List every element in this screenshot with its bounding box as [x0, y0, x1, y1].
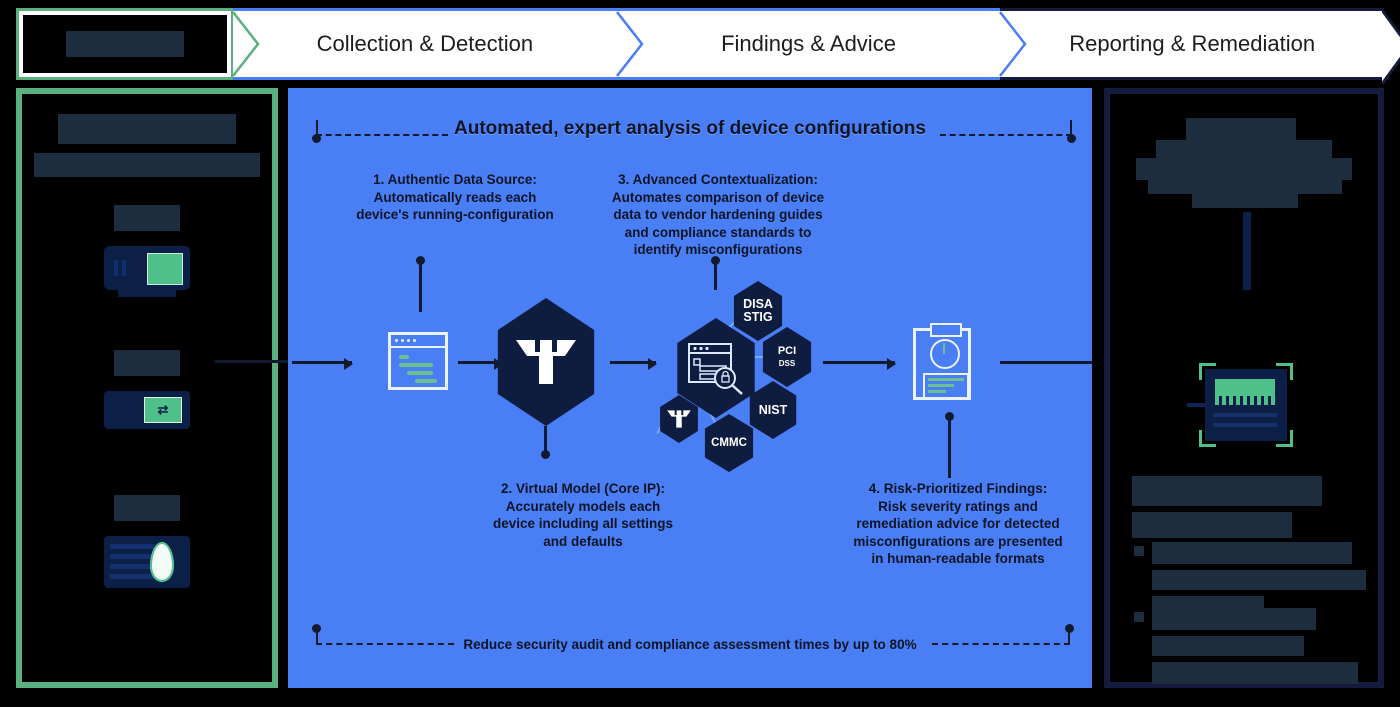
chevron-notch-2 [616, 11, 646, 77]
config-window-titlebar-icon [391, 335, 445, 348]
server-bracket-br [1276, 430, 1293, 447]
server-shelf-1 [1213, 413, 1277, 417]
callout-3-leader [714, 260, 717, 290]
callout-2-body: Accurately models eachdevice including a… [493, 499, 673, 549]
config-window-icon [388, 332, 448, 390]
callout-1-title: 1. Authentic Data Source: [330, 171, 580, 189]
reporting-panel [1104, 88, 1384, 688]
chevron-step-1-redacted-label [23, 15, 227, 73]
server-inbound-connector [1187, 403, 1207, 407]
chevron-step-1[interactable] [16, 8, 234, 80]
chevron-notch-3 [999, 11, 1029, 77]
header-dot-left [312, 134, 321, 143]
header-dash-right [940, 134, 1072, 136]
config-line-2 [399, 363, 433, 367]
footer-dash-right [932, 643, 1070, 645]
header-dash-left [316, 134, 448, 136]
chevron-step-3[interactable]: Findings & Advice [617, 8, 1001, 80]
chevron-step-2-label: Collection & Detection [317, 31, 533, 57]
arrow-scan-to-report [823, 361, 895, 364]
chevron-step-4[interactable]: Reporting & Remediation [1000, 8, 1384, 80]
reporting-bullet-2-redacted [1152, 608, 1364, 690]
device-switch-label-redacted [114, 350, 180, 376]
chevron-end-arrow-icon [1382, 8, 1400, 86]
core-engine-logo-hexagon [490, 298, 602, 426]
badge-pci-dss: PCIDSS [759, 327, 815, 387]
analysis-panel: Automated, expert analysis of device con… [288, 88, 1092, 688]
left-to-center-connector [215, 360, 295, 363]
badge-cmmc: CMMC [701, 414, 757, 472]
vendor-logo-icon [513, 334, 579, 390]
left-panel-inner: ⇄ [28, 100, 266, 676]
bullet-1-icon [1134, 546, 1144, 556]
process-chevron-bar: Collection & Detection Findings & Advice… [16, 8, 1384, 80]
analysis-panel-header: Automated, expert analysis of device con… [288, 118, 1092, 140]
config-line-4 [415, 379, 437, 383]
switch-icon: ⇄ [104, 391, 190, 429]
firewall-bricks-icon [110, 544, 154, 584]
callout-2-leader [544, 426, 547, 452]
firewall-flame-icon [104, 536, 190, 588]
callout-1-body: Automatically reads eachdevice's running… [356, 190, 553, 223]
arrow-config-to-engine [458, 361, 502, 364]
device-router-label-redacted [114, 205, 180, 231]
badge-nist-label: NIST [759, 403, 787, 417]
router-screen-icon [147, 253, 183, 285]
chevron-notch-1 [232, 11, 262, 77]
callout-3-body: Automates comparison of devicedata to ve… [612, 190, 824, 258]
callout-2-title: 2. Virtual Model (Core IP): [458, 480, 708, 498]
chevron-step-3-label: Findings & Advice [721, 31, 896, 57]
callout-4: 4. Risk-Prioritized Findings: Risk sever… [833, 480, 1083, 568]
callout-2: 2. Virtual Model (Core IP): Accurately m… [458, 480, 708, 550]
callout-4-body: Risk severity ratings andremediation adv… [853, 499, 1062, 567]
device-firewall[interactable] [28, 495, 266, 588]
diagram-canvas: Collection & Detection Findings & Advice… [0, 0, 1400, 707]
header-dot-right [1067, 134, 1076, 143]
cloud-icon [1134, 114, 1356, 210]
server-bracket-bl [1199, 430, 1216, 447]
device-firewall-label-redacted [114, 495, 180, 521]
server-rack-icon [1205, 369, 1287, 441]
server-bracket-tr [1276, 363, 1293, 380]
callout-3: 3. Advanced Contextualization: Automates… [588, 171, 848, 259]
badge-pci-dss-label: PCIDSS [778, 345, 796, 370]
footer-dash-left [316, 643, 454, 645]
switch-arrows-icon: ⇄ [144, 397, 182, 423]
bullet-2-icon [1134, 612, 1144, 622]
left-panel-title-redacted [28, 114, 266, 186]
cloud-to-server-connector [1243, 212, 1251, 290]
footer-dot-right [1065, 624, 1074, 633]
scan-glyph-icon [687, 340, 745, 396]
router-base-icon [118, 290, 176, 297]
report-to-right-connector [1000, 361, 1092, 364]
vendor-logo-small-icon [666, 408, 692, 430]
inbound-arrow [292, 361, 352, 364]
config-line-1 [399, 355, 409, 359]
arrow-engine-to-scan [610, 361, 656, 364]
badge-cmmc-label: CMMC [711, 437, 747, 449]
badge-disa-stig-label: DISASTIG [743, 298, 773, 325]
badge-disa-stig: DISASTIG [730, 281, 786, 341]
callout-3-title: 3. Advanced Contextualization: [588, 171, 848, 189]
report-pie-chart-icon [930, 339, 960, 369]
server-grill-icon [1215, 379, 1275, 405]
flame-icon [150, 542, 174, 582]
config-line-3 [407, 371, 433, 375]
router-ports-icon [114, 260, 126, 276]
footer-dot-left [312, 624, 321, 633]
clipboard-clip-icon [930, 323, 962, 337]
callout-1-leader [419, 260, 422, 312]
server-bracket-tl [1199, 363, 1216, 380]
network-devices-panel: ⇄ [16, 88, 278, 688]
clipboard-report-icon [913, 328, 971, 400]
router-icon [104, 246, 190, 290]
callout-4-title: 4. Risk-Prioritized Findings: [833, 480, 1083, 498]
reporting-body-redacted [1132, 476, 1356, 544]
callout-4-leader [948, 416, 951, 478]
chevron-step-4-label: Reporting & Remediation [1069, 31, 1315, 57]
device-router[interactable] [28, 205, 266, 290]
chevron-step-2[interactable]: Collection & Detection [233, 8, 617, 80]
callout-1: 1. Authentic Data Source: Automatically … [330, 171, 580, 224]
report-text-block-icon [923, 373, 969, 399]
server-shelf-2 [1213, 423, 1277, 427]
